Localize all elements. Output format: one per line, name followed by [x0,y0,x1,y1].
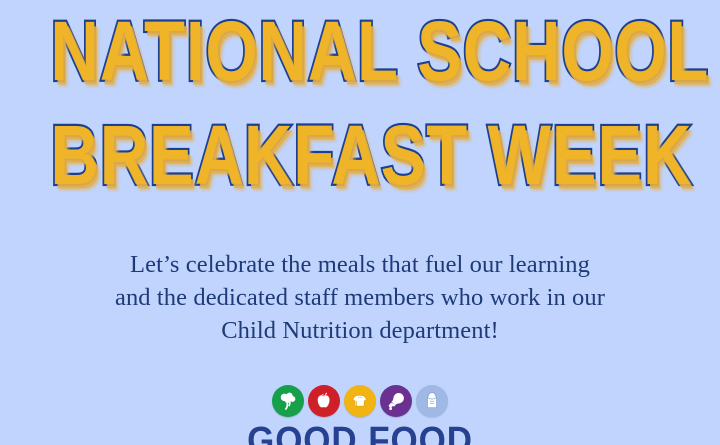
headline-line-2: BREAKFAST WEEK [50,114,669,197]
headline-line-1: NATIONAL SCHOOL [50,10,669,93]
body-copy-line-3: Child Nutrition department! [0,314,720,347]
bread-icon [344,385,376,417]
good-food-logo: GOOD FOOD [0,384,720,445]
body-copy: Let’s celebrate the meals that fuel our … [0,248,720,347]
headline: NATIONAL SCHOOL BREAKFAST WEEK [0,2,720,191]
food-group-icon-row [0,384,720,418]
poster-canvas: NATIONAL SCHOOL BREAKFAST WEEK Let’s cel… [0,0,720,445]
logo-wordmark: GOOD FOOD [29,422,691,445]
body-copy-line-2: and the dedicated staff members who work… [0,281,720,314]
broccoli-icon [272,385,304,417]
drumstick-icon [380,385,412,417]
apple-icon [308,385,340,417]
body-copy-line-1: Let’s celebrate the meals that fuel our … [0,248,720,281]
milk-carton-icon [416,385,448,417]
